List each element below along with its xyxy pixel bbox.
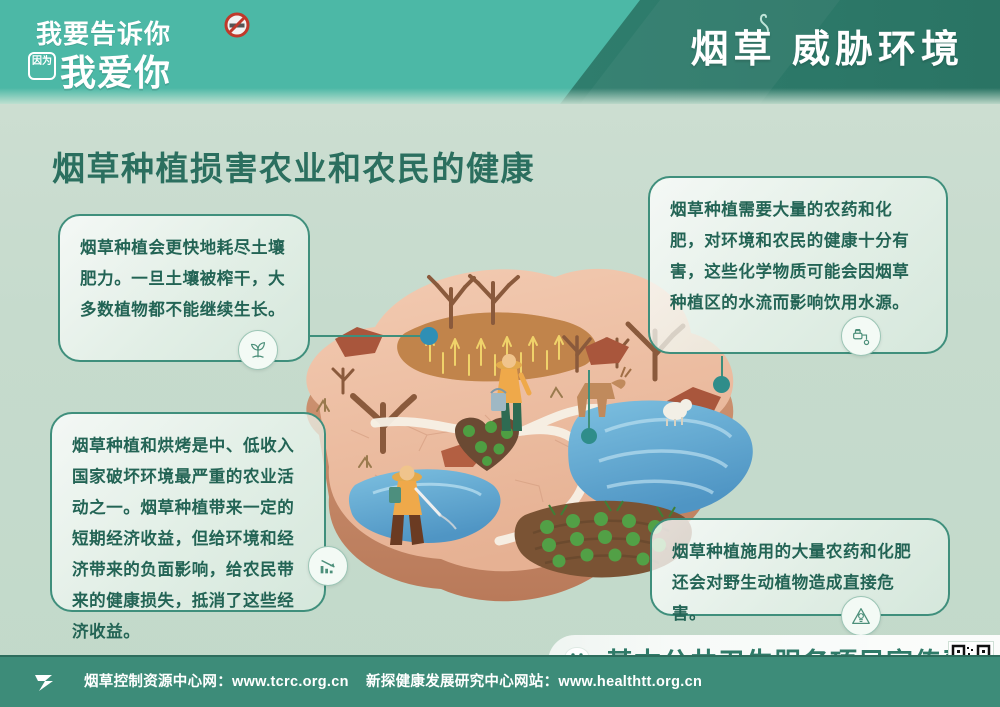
declining-chart-icon xyxy=(308,546,348,586)
smoke-curl-icon xyxy=(754,12,776,34)
connector-dot-soil xyxy=(420,327,438,345)
footer-link-healthtt[interactable]: 新探健康发展研究中心网站：www.healthtt.org.cn xyxy=(366,670,702,691)
connector-soil xyxy=(310,335,428,337)
callout-wildlife-text: 烟草种植施用的大量农药和化肥还会对野生动植物造成直接危害。 xyxy=(672,537,928,630)
brand-mark-icon xyxy=(32,669,58,693)
callout-economy: 烟草种植和烘烤是中、低收入国家破坏环境最严重的农业活动之一。烟草种植带来一定的短… xyxy=(50,412,326,612)
campaign-logo: 我要告诉你 因为 我爱你 xyxy=(28,14,288,92)
connector-dot-chem xyxy=(713,376,730,393)
header-title-text: 烟草 威胁环境 xyxy=(690,29,964,71)
callout-chemicals: 烟草种植需要大量的农药和化肥，对环境和农民的健康十分有害，这些化学物质可能会因烟… xyxy=(648,176,948,354)
page-title: 烟草种植损害农业和农民的健康 xyxy=(52,142,535,190)
callout-economy-text: 烟草种植和烘烤是中、低收入国家破坏环境最严重的农业活动之一。烟草种植带来一定的短… xyxy=(72,431,304,648)
callout-soil-text: 烟草种植会更快地耗尽土壤肥力。一旦土壤被榨干，大多数植物都不能继续生长。 xyxy=(80,233,288,326)
callout-wildlife: 烟草种植施用的大量农药和化肥还会对野生动植物造成直接危害。 xyxy=(650,518,950,616)
footer-link-tcrc[interactable]: 烟草控制资源中心网：www.tcrc.org.cn xyxy=(84,670,349,691)
callout-chemicals-text: 烟草种植需要大量的农药和化肥，对环境和农民的健康十分有害，这些化学物质可能会因烟… xyxy=(670,195,926,319)
poster: 我要告诉你 因为 我爱你 烟草 威胁环境 烟草种植损害农业和农民的健康 xyxy=(0,0,1000,707)
logo-line-2: 我爱你 xyxy=(60,44,171,96)
no-smoking-icon xyxy=(224,12,250,38)
footer-top-line xyxy=(0,655,1000,657)
header-bar: 我要告诉你 因为 我爱你 烟草 威胁环境 xyxy=(0,0,1000,104)
footer-bar: 烟草控制资源中心网：www.tcrc.org.cn 新探健康发展研究中心网站：w… xyxy=(0,655,1000,707)
connector-wild xyxy=(588,370,590,436)
logo-because-badge: 因为 xyxy=(28,52,56,80)
faucet-icon xyxy=(841,316,881,356)
sprout-icon xyxy=(238,330,278,370)
connector-dot-wild xyxy=(581,428,597,444)
header-title: 烟草 威胁环境 xyxy=(690,18,964,73)
